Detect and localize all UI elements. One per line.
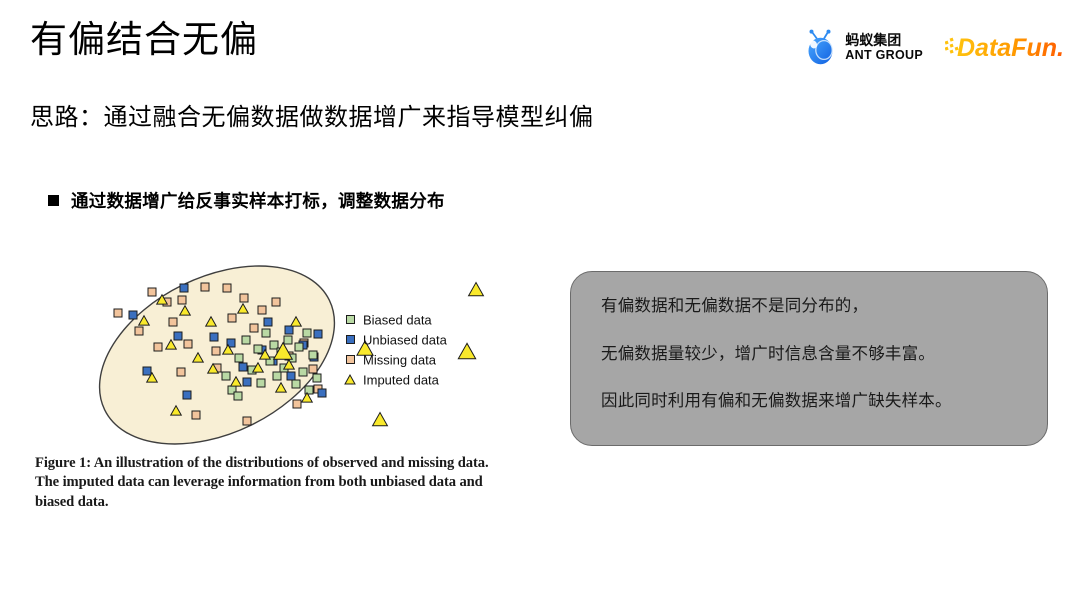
scatter-marker <box>135 327 143 335</box>
scatter-marker <box>309 351 317 359</box>
scatter-marker <box>201 283 209 291</box>
ant-mark-icon <box>804 29 838 65</box>
scatter-marker <box>299 368 307 376</box>
scatter-marker <box>177 368 185 376</box>
scatter-marker <box>174 332 182 340</box>
scatter-marker <box>257 379 265 387</box>
scatter-marker <box>273 372 281 380</box>
scatter-marker <box>178 296 186 304</box>
scatter-marker <box>285 326 293 334</box>
scatter-marker <box>169 318 177 326</box>
scatter-marker <box>228 314 236 322</box>
scatter-marker <box>295 343 303 351</box>
logo-row: 蚂蚁集团 ANT GROUP DataFun. <box>804 27 1065 67</box>
scatter-marker <box>243 417 251 425</box>
ant-group-name-cn: 蚂蚁集团 <box>845 33 923 47</box>
distribution-ellipse <box>70 265 363 450</box>
scatter-marker <box>212 347 220 355</box>
scatter-marker <box>303 329 311 337</box>
ant-group-name-en: ANT GROUP <box>845 49 923 62</box>
scatter-distribution-figure: Biased dataUnbiased dataMissing dataImpu… <box>35 265 535 450</box>
scatter-marker <box>264 318 272 326</box>
scatter-marker <box>258 306 266 314</box>
scatter-marker <box>293 400 301 408</box>
bullet-item-label: 通过数据增广给反事实样本打标，调整数据分布 <box>71 188 445 213</box>
page-title: 有偏结合无偏 <box>30 18 258 62</box>
figure-block: Biased dataUnbiased dataMissing dataImpu… <box>35 265 535 512</box>
legend-label: Imputed data <box>363 373 440 388</box>
scatter-marker <box>284 336 292 344</box>
scatter-marker <box>272 298 280 306</box>
scatter-marker <box>305 386 313 394</box>
scatter-marker <box>239 363 247 371</box>
scatter-marker <box>262 329 270 337</box>
scatter-marker <box>254 345 262 353</box>
scatter-marker <box>373 413 388 426</box>
ant-group-logo: 蚂蚁集团 ANT GROUP <box>804 29 923 65</box>
scatter-marker <box>309 365 317 373</box>
scatter-marker <box>192 411 200 419</box>
legend-marker <box>347 336 355 344</box>
scatter-marker <box>114 309 122 317</box>
scatter-marker <box>314 330 322 338</box>
scatter-marker <box>250 324 258 332</box>
page-subtitle: 思路：通过融合无偏数据做数据增广来指导模型纠偏 <box>30 97 594 132</box>
scatter-marker <box>222 372 230 380</box>
scatter-marker <box>154 343 162 351</box>
scatter-marker <box>148 288 156 296</box>
legend-marker <box>347 316 355 324</box>
scatter-marker <box>243 378 251 386</box>
legend-label: Missing data <box>363 353 437 368</box>
scatter-marker <box>235 354 243 362</box>
note-box: 有偏数据和无偏数据不是同分布的， 无偏数据量较少，增广时信息含量不够丰富。 因此… <box>570 271 1048 446</box>
datafun-logo: DataFun. <box>945 32 1065 62</box>
scatter-marker <box>240 294 248 302</box>
bullet-item: 通过数据增广给反事实样本打标，调整数据分布 <box>48 188 445 213</box>
legend-label: Biased data <box>363 313 432 328</box>
scatter-marker <box>184 340 192 348</box>
scatter-marker <box>242 336 250 344</box>
scatter-marker <box>458 343 475 358</box>
legend-marker <box>347 356 355 364</box>
scatter-marker <box>313 374 321 382</box>
note-line: 因此同时利用有偏和无偏数据来增广缺失样本。 <box>601 393 1019 410</box>
scatter-marker <box>143 367 151 375</box>
note-line: 无偏数据量较少，增广时信息含量不够丰富。 <box>601 346 1019 363</box>
scatter-marker <box>292 380 300 388</box>
scatter-marker <box>210 333 218 341</box>
filled-square-bullet-icon <box>48 195 59 206</box>
figure-caption: Figure 1: An illustration of the distrib… <box>35 454 513 512</box>
legend-marker <box>345 375 355 384</box>
ant-group-wordmark: 蚂蚁集团 ANT GROUP <box>845 33 923 62</box>
scatter-marker <box>469 283 484 296</box>
scatter-marker <box>234 392 242 400</box>
scatter-marker <box>223 284 231 292</box>
scatter-marker <box>129 311 137 319</box>
scatter-marker <box>287 372 295 380</box>
scatter-marker <box>183 391 191 399</box>
scatter-marker <box>180 284 188 292</box>
scatter-marker <box>318 389 326 397</box>
datafun-wordmark: DataFun. <box>957 34 1064 62</box>
note-line: 有偏数据和无偏数据不是同分布的， <box>601 298 1019 315</box>
legend-label: Unbiased data <box>363 333 448 348</box>
